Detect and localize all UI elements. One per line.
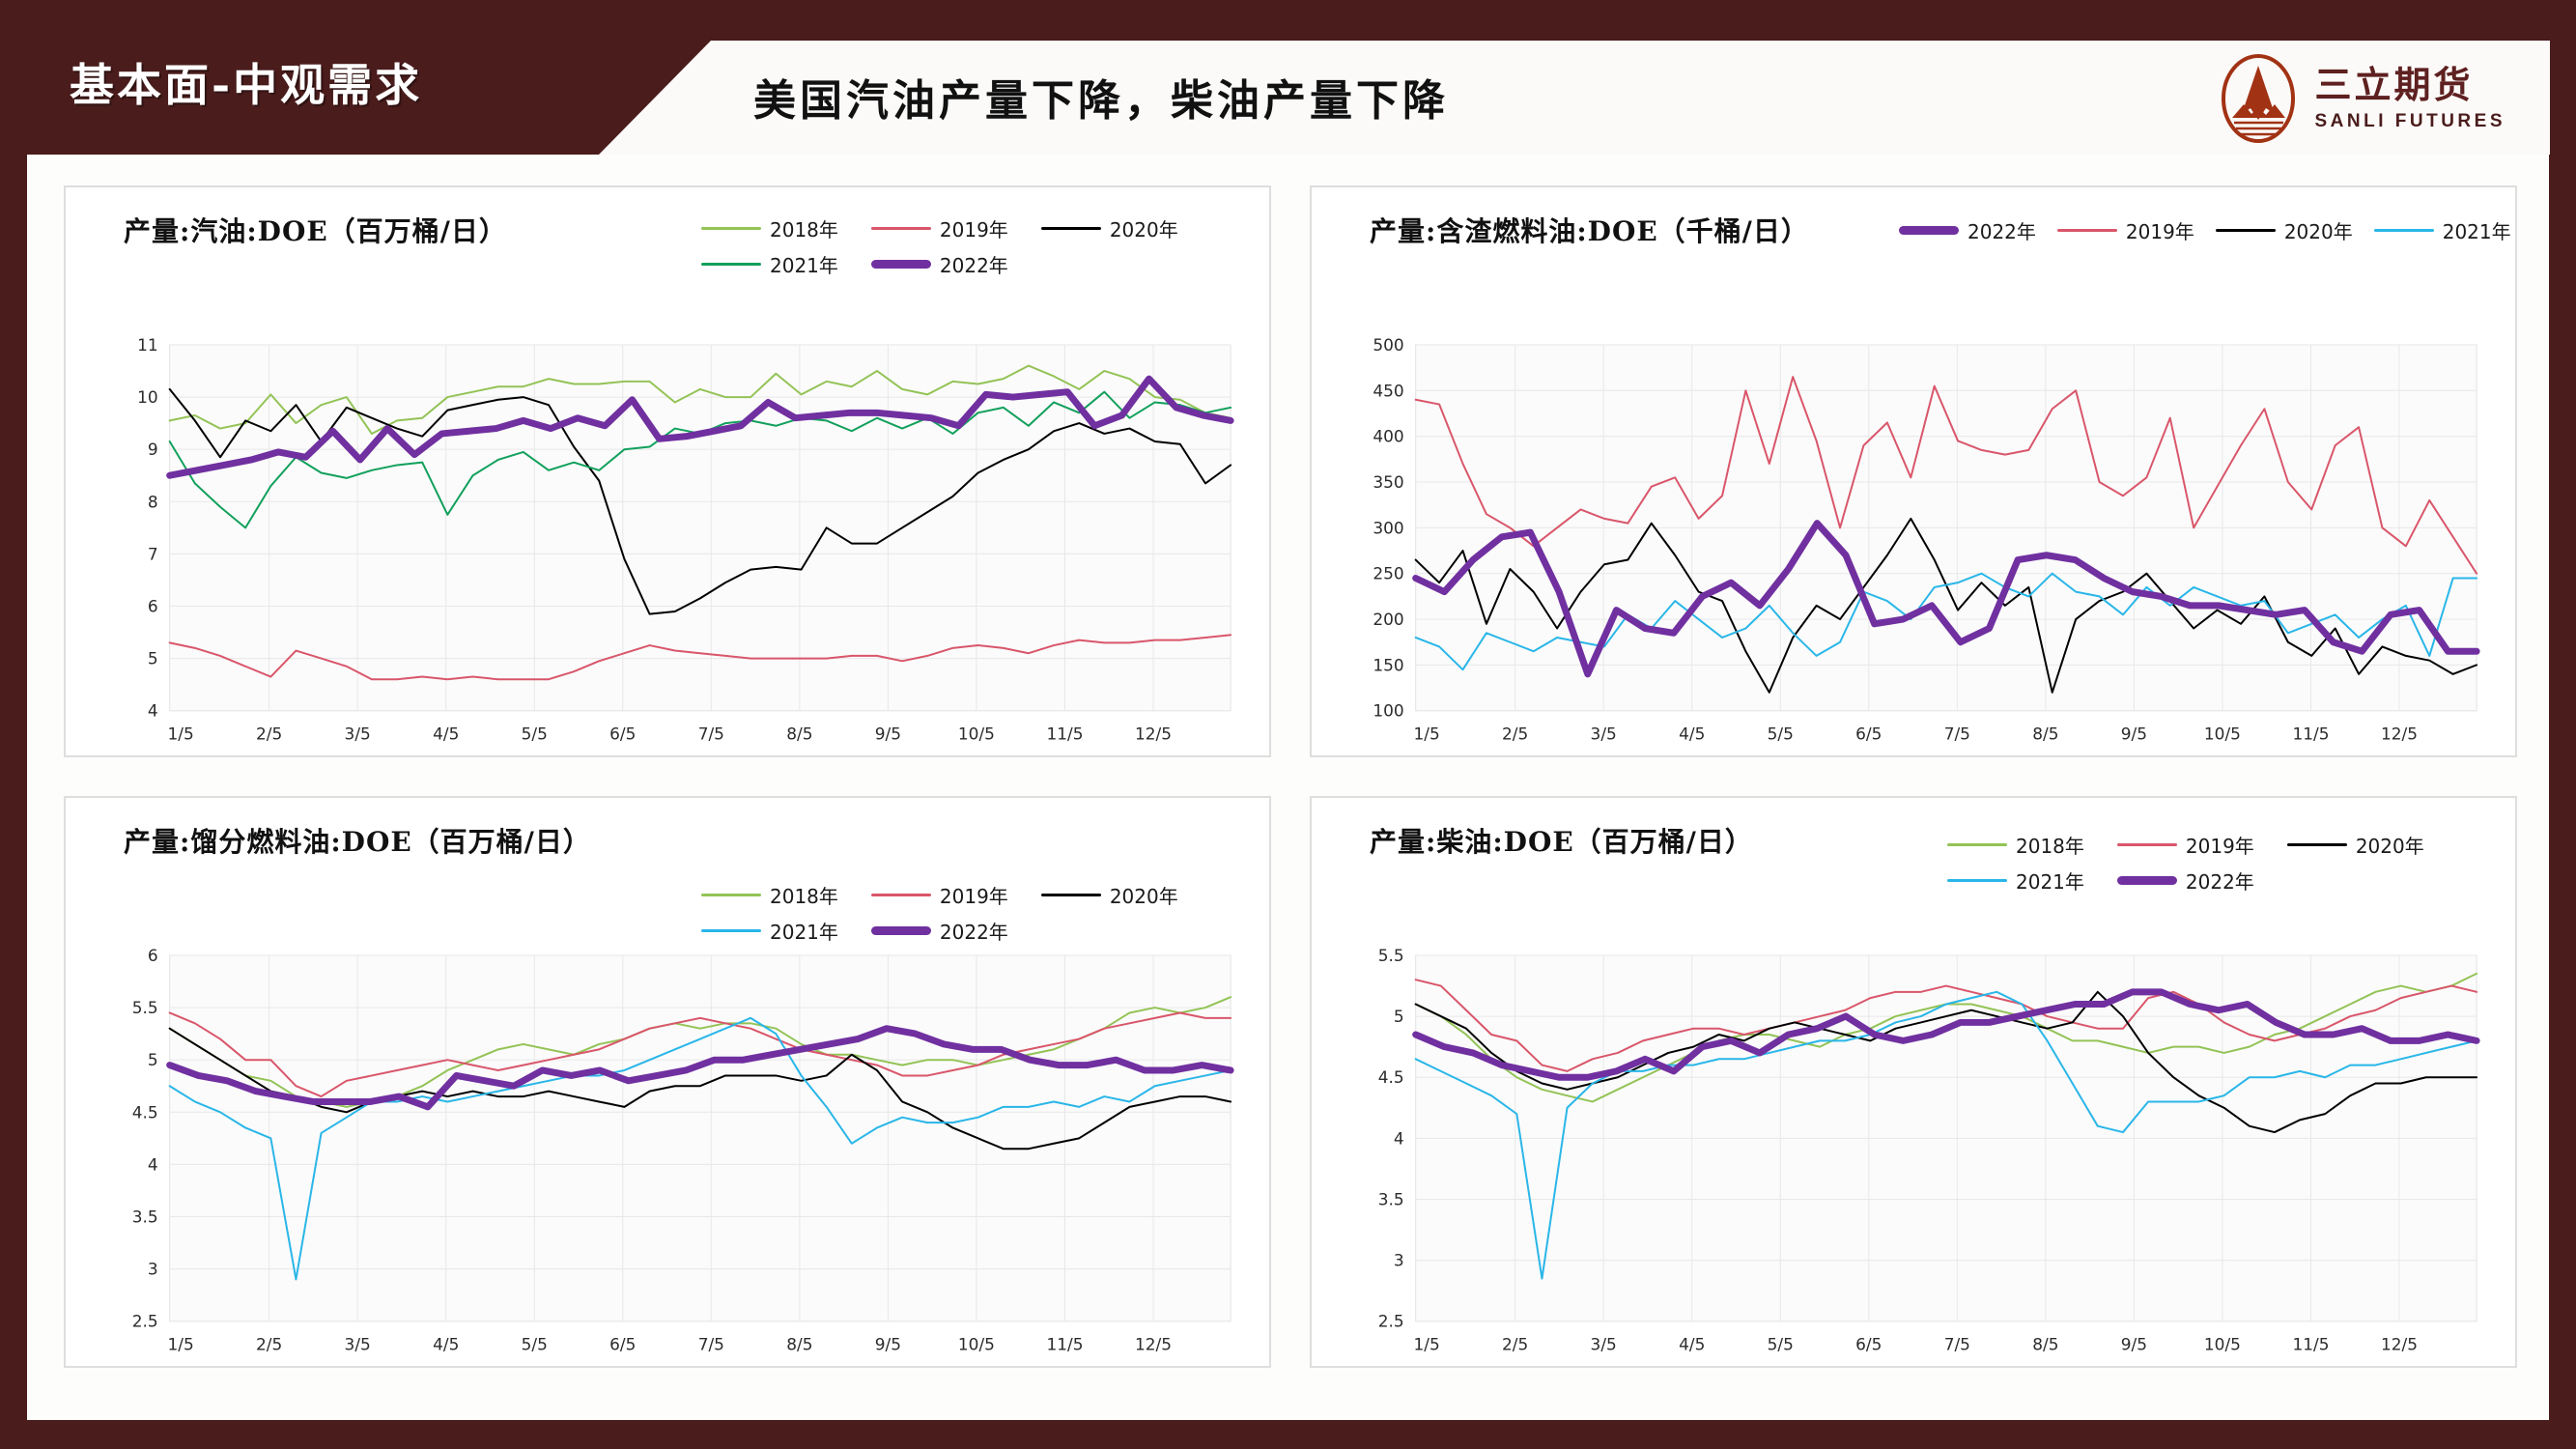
svg-text:8/5: 8/5 xyxy=(2032,1335,2058,1354)
svg-text:6/5: 6/5 xyxy=(1855,1335,1882,1354)
legend-swatch-2019 xyxy=(2057,229,2117,232)
chart-title: 产量:含渣燃料油:DOE（千桶/日） xyxy=(1370,211,1809,249)
svg-text:8/5: 8/5 xyxy=(786,1335,812,1354)
legend-item[interactable]: 2022年 xyxy=(871,250,1008,278)
svg-text:3.5: 3.5 xyxy=(1378,1190,1404,1209)
charts-grid: 产量:汽油:DOE（百万桶/日） 2018年 2019年 2020年 2021年 xyxy=(64,185,2517,1369)
svg-text:1/5: 1/5 xyxy=(167,724,193,744)
legend-swatch-2021 xyxy=(701,263,761,266)
mountain-logo-icon xyxy=(2219,54,2298,143)
svg-text:10/5: 10/5 xyxy=(958,1335,995,1354)
svg-text:5/5: 5/5 xyxy=(522,1335,548,1354)
legend-swatch-2018 xyxy=(701,894,761,896)
legend-label: 2021年 xyxy=(770,250,838,278)
chart-legend: 2018年 2019年 2020年 2021年 2022年 xyxy=(701,214,1242,278)
svg-text:12/5: 12/5 xyxy=(2381,724,2418,744)
legend-swatch-2020 xyxy=(1041,894,1101,896)
svg-text:7/5: 7/5 xyxy=(1944,1335,1970,1354)
svg-text:11/5: 11/5 xyxy=(1046,1335,1083,1354)
legend-swatch-2020 xyxy=(2287,843,2347,846)
chart-title: 产量:汽油:DOE（百万桶/日） xyxy=(124,211,507,249)
chart-legend: 2018年 2019年 2020年 2021年 2022年 xyxy=(1947,831,2488,895)
svg-text:5.5: 5.5 xyxy=(1378,946,1404,965)
slide-root: 基本面-中观需求 美国汽油产量下降，柴油产量下降 三立期货 SANLI FUTU… xyxy=(0,0,2576,1449)
svg-text:2/5: 2/5 xyxy=(1502,724,1528,744)
svg-text:11/5: 11/5 xyxy=(1046,724,1083,744)
legend-label: 2022年 xyxy=(2186,867,2254,895)
chart-panel-distillate-fuel: 产量:馏分燃料油:DOE（百万桶/日） 2018年 2019年 2020年 20… xyxy=(64,796,1271,1368)
svg-text:4/5: 4/5 xyxy=(433,1335,459,1354)
legend-swatch-2019 xyxy=(871,227,931,230)
svg-text:9/5: 9/5 xyxy=(2121,1335,2147,1354)
svg-text:3/5: 3/5 xyxy=(345,724,371,744)
line-chart-svg: 2.533.544.555.51/52/53/54/55/56/57/58/59… xyxy=(1312,942,2515,1366)
legend-label: 2020年 xyxy=(2284,216,2353,244)
plot-area: 45678910111/52/53/54/55/56/57/58/59/510/… xyxy=(66,331,1269,755)
svg-text:4.5: 4.5 xyxy=(1378,1068,1404,1088)
legend-swatch-2018 xyxy=(701,227,761,230)
legend-label: 2022年 xyxy=(1967,216,2036,244)
svg-text:12/5: 12/5 xyxy=(1135,1335,1172,1354)
brand-name-en: SANLI FUTURES xyxy=(2315,112,2506,130)
legend-item[interactable]: 2022年 xyxy=(2117,867,2254,895)
svg-text:3.5: 3.5 xyxy=(132,1207,158,1227)
legend-swatch-2018 xyxy=(1947,843,2007,846)
legend-item[interactable]: 2021年 xyxy=(701,250,838,278)
legend-label: 2019年 xyxy=(2186,831,2254,859)
svg-text:10/5: 10/5 xyxy=(958,724,995,744)
svg-text:6: 6 xyxy=(148,946,158,965)
legend-label: 2019年 xyxy=(940,214,1008,242)
legend-label: 2022年 xyxy=(940,917,1008,945)
legend-label: 2020年 xyxy=(1110,881,1178,909)
legend-swatch-2022 xyxy=(1899,226,1959,235)
chart-panel-residual-fuel: 产量:含渣燃料油:DOE（千桶/日） 2022年 2019年 2020年 202… xyxy=(1310,185,2517,757)
legend-item[interactable]: 2021年 xyxy=(701,917,838,945)
svg-text:7/5: 7/5 xyxy=(698,724,724,744)
plot-area: 1001502002503003504004505001/52/53/54/55… xyxy=(1312,331,2515,755)
legend-swatch-2019 xyxy=(871,894,931,896)
brand-text: 三立期货 SANLI FUTURES xyxy=(2315,67,2506,130)
svg-text:1/5: 1/5 xyxy=(167,1335,193,1354)
plot-area: 2.533.544.555.51/52/53/54/55/56/57/58/59… xyxy=(1312,942,2515,1366)
legend-label: 2020年 xyxy=(1110,214,1178,242)
svg-text:5/5: 5/5 xyxy=(1768,1335,1794,1354)
svg-text:2/5: 2/5 xyxy=(256,1335,282,1354)
legend-item[interactable]: 2018年 xyxy=(701,214,838,242)
svg-text:5: 5 xyxy=(148,649,158,668)
legend-item[interactable]: 2019年 xyxy=(2117,831,2254,859)
svg-text:100: 100 xyxy=(1373,701,1403,721)
svg-text:450: 450 xyxy=(1373,382,1403,401)
legend-label: 2020年 xyxy=(2356,831,2424,859)
legend-item[interactable]: 2018年 xyxy=(701,881,838,909)
svg-text:9/5: 9/5 xyxy=(2121,724,2147,744)
svg-text:10/5: 10/5 xyxy=(2204,1335,2241,1354)
svg-text:1/5: 1/5 xyxy=(1413,724,1439,744)
line-chart-svg: 45678910111/52/53/54/55/56/57/58/59/510/… xyxy=(66,331,1269,755)
svg-text:11/5: 11/5 xyxy=(2292,724,2329,744)
legend-item[interactable]: 2019年 xyxy=(871,881,1008,909)
svg-text:6: 6 xyxy=(148,597,158,616)
svg-text:300: 300 xyxy=(1373,519,1403,538)
svg-text:5.5: 5.5 xyxy=(132,998,158,1017)
svg-text:3/5: 3/5 xyxy=(1591,724,1617,744)
legend-swatch-2019 xyxy=(2117,843,2177,846)
legend-item[interactable]: 2018年 xyxy=(1947,831,2084,859)
svg-text:7: 7 xyxy=(148,545,158,564)
svg-text:5: 5 xyxy=(148,1051,158,1070)
plot-area: 2.533.544.555.561/52/53/54/55/56/57/58/5… xyxy=(66,942,1269,1366)
svg-text:200: 200 xyxy=(1373,610,1403,629)
svg-text:2/5: 2/5 xyxy=(256,724,282,744)
svg-text:4: 4 xyxy=(1394,1129,1404,1149)
svg-text:7/5: 7/5 xyxy=(1944,724,1970,744)
legend-swatch-2022 xyxy=(2117,876,2177,885)
svg-text:2.5: 2.5 xyxy=(1378,1312,1404,1331)
legend-item[interactable]: 2021年 xyxy=(2374,216,2511,244)
legend-item[interactable]: 2022年 xyxy=(871,917,1008,945)
svg-text:8/5: 8/5 xyxy=(786,724,812,744)
legend-label: 2021年 xyxy=(2016,867,2084,895)
svg-text:4: 4 xyxy=(148,701,158,721)
legend-label: 2021年 xyxy=(770,917,838,945)
header-ribbon: 美国汽油产量下降，柴油产量下降 三立期货 SANLI FUTURES xyxy=(599,41,2550,155)
svg-text:4/5: 4/5 xyxy=(433,724,459,744)
header-category-label: 基本面-中观需求 xyxy=(70,50,422,114)
chart-legend: 2022年 2019年 2020年 2021年 xyxy=(1899,216,2498,244)
legend-swatch-2020 xyxy=(2216,229,2276,232)
svg-text:10: 10 xyxy=(137,387,158,407)
svg-text:8: 8 xyxy=(148,493,158,512)
legend-label: 2018年 xyxy=(770,214,838,242)
legend-swatch-2022 xyxy=(871,260,931,269)
legend-item[interactable]: 2020年 xyxy=(1041,214,1178,242)
legend-item[interactable]: 2021年 xyxy=(1947,867,2084,895)
svg-text:2.5: 2.5 xyxy=(132,1312,158,1331)
legend-label: 2021年 xyxy=(2443,216,2511,244)
svg-text:9: 9 xyxy=(148,440,158,460)
legend-item[interactable]: 2019年 xyxy=(871,214,1008,242)
line-chart-svg: 2.533.544.555.561/52/53/54/55/56/57/58/5… xyxy=(66,942,1269,1366)
page-title: 美国汽油产量下降，柴油产量下降 xyxy=(753,66,1449,128)
svg-text:6/5: 6/5 xyxy=(1855,724,1882,744)
brand-name-cn: 三立期货 xyxy=(2315,67,2506,103)
chart-title: 产量:馏分燃料油:DOE（百万桶/日） xyxy=(124,821,591,860)
legend-item[interactable]: 2020年 xyxy=(2216,216,2353,244)
svg-text:12/5: 12/5 xyxy=(1135,724,1172,744)
legend-swatch-2020 xyxy=(1041,227,1101,230)
svg-text:7/5: 7/5 xyxy=(698,1335,724,1354)
legend-item[interactable]: 2020年 xyxy=(2287,831,2424,859)
legend-item[interactable]: 2020年 xyxy=(1041,881,1178,909)
svg-text:1/5: 1/5 xyxy=(1413,1335,1439,1354)
svg-text:3/5: 3/5 xyxy=(1591,1335,1617,1354)
svg-text:6/5: 6/5 xyxy=(609,1335,636,1354)
legend-item[interactable]: 2022年 xyxy=(1899,216,2036,244)
legend-swatch-2021 xyxy=(701,929,761,932)
svg-text:250: 250 xyxy=(1373,564,1403,583)
svg-text:8/5: 8/5 xyxy=(2032,724,2058,744)
svg-text:5: 5 xyxy=(1394,1007,1404,1026)
line-chart-svg: 1001502002503003504004505001/52/53/54/55… xyxy=(1312,331,2515,755)
svg-text:9/5: 9/5 xyxy=(875,724,901,744)
legend-item[interactable]: 2019年 xyxy=(2057,216,2194,244)
legend-label: 2019年 xyxy=(940,881,1008,909)
legend-swatch-2021 xyxy=(1947,879,2007,882)
legend-label: 2019年 xyxy=(2126,216,2194,244)
chart-legend: 2018年 2019年 2020年 2021年 2022年 xyxy=(701,881,1242,945)
svg-text:150: 150 xyxy=(1373,656,1403,675)
svg-text:11/5: 11/5 xyxy=(2292,1335,2329,1354)
svg-text:3: 3 xyxy=(148,1260,158,1279)
svg-text:11: 11 xyxy=(137,335,158,355)
svg-text:400: 400 xyxy=(1373,427,1403,446)
legend-label: 2022年 xyxy=(940,250,1008,278)
legend-label: 2018年 xyxy=(2016,831,2084,859)
svg-text:5/5: 5/5 xyxy=(522,724,548,744)
chart-panel-diesel: 产量:柴油:DOE（百万桶/日） 2018年 2019年 2020年 2021年 xyxy=(1310,796,2517,1368)
svg-text:4: 4 xyxy=(148,1155,158,1175)
svg-text:3: 3 xyxy=(1394,1251,1404,1270)
svg-text:4/5: 4/5 xyxy=(1679,1335,1705,1354)
svg-text:4/5: 4/5 xyxy=(1679,724,1705,744)
chart-panel-gasoline: 产量:汽油:DOE（百万桶/日） 2018年 2019年 2020年 2021年 xyxy=(64,185,1271,757)
svg-text:3/5: 3/5 xyxy=(345,1335,371,1354)
svg-text:5/5: 5/5 xyxy=(1768,724,1794,744)
chart-title: 产量:柴油:DOE（百万桶/日） xyxy=(1370,821,1753,860)
slide-header: 基本面-中观需求 美国汽油产量下降，柴油产量下降 三立期货 SANLI FUTU… xyxy=(0,0,2576,155)
legend-swatch-2021 xyxy=(2374,229,2434,232)
svg-text:12/5: 12/5 xyxy=(2381,1335,2418,1354)
svg-text:4.5: 4.5 xyxy=(132,1103,158,1122)
legend-swatch-2022 xyxy=(871,926,931,935)
legend-label: 2018年 xyxy=(770,881,838,909)
svg-text:350: 350 xyxy=(1373,472,1403,492)
svg-text:6/5: 6/5 xyxy=(609,724,636,744)
svg-text:9/5: 9/5 xyxy=(875,1335,901,1354)
svg-text:2/5: 2/5 xyxy=(1502,1335,1528,1354)
brand-logo: 三立期货 SANLI FUTURES xyxy=(2219,54,2506,143)
svg-text:10/5: 10/5 xyxy=(2204,724,2241,744)
svg-text:500: 500 xyxy=(1373,335,1403,355)
